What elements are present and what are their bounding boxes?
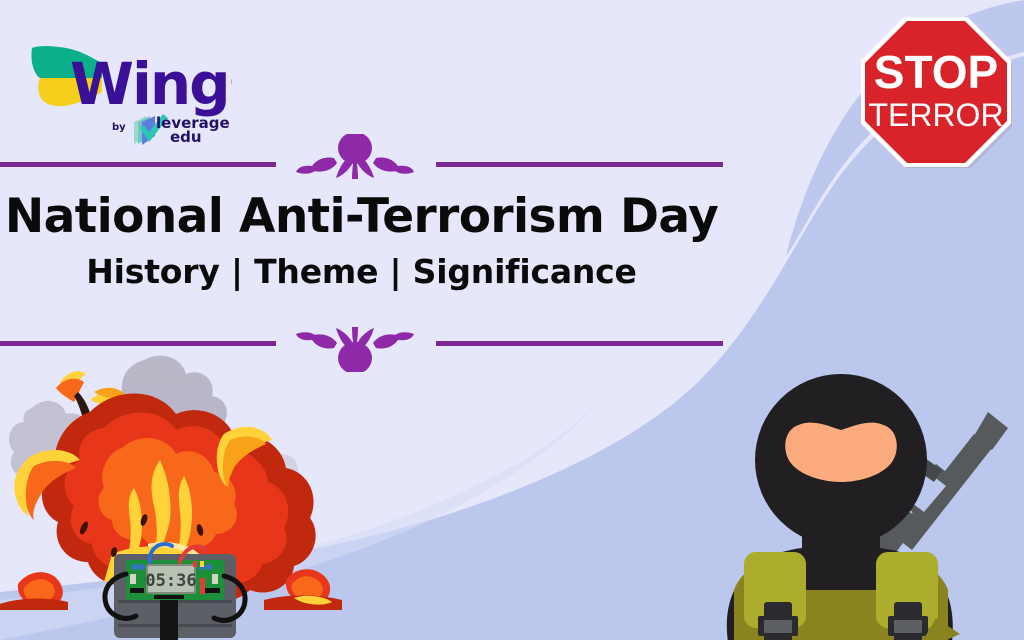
divider-bottom-right — [436, 341, 723, 346]
logo-by-label: by — [112, 122, 126, 133]
masked-gunman-illustration — [636, 350, 1024, 640]
page-title: National Anti-Terrorism Day — [0, 192, 723, 241]
logo-wordmark: Wings — [70, 50, 232, 118]
stop-terror-sign[interactable]: STOP TERROR — [860, 16, 1012, 168]
title-block: National Anti-Terrorism Day History | Th… — [0, 150, 760, 358]
wings-logo[interactable]: Wings by leverage edu — [22, 30, 232, 145]
page-subtitle: History | Theme | Significance — [0, 254, 723, 290]
divider-top-right — [436, 162, 723, 167]
anti-terrorism-day-banner: Wings by leverage edu STOP — [0, 0, 1024, 640]
divider-bottom-left — [0, 341, 276, 346]
bomb-device: 05:36 — [105, 544, 245, 640]
logo-sub-brand-line2: edu — [170, 128, 202, 145]
bomb-timer-value: 05:36 — [145, 571, 196, 591]
bomb-explosion-illustration: 05:36 — [0, 348, 346, 640]
ornament-bottom-icon — [296, 326, 414, 372]
divider-top-left — [0, 162, 276, 167]
vest-buckle-left — [758, 602, 798, 640]
vest-buckle-right — [888, 602, 928, 640]
stop-sign-line1: STOP — [874, 46, 998, 98]
stop-sign-line2: TERROR — [868, 97, 1003, 133]
ornament-top-icon — [296, 134, 414, 180]
